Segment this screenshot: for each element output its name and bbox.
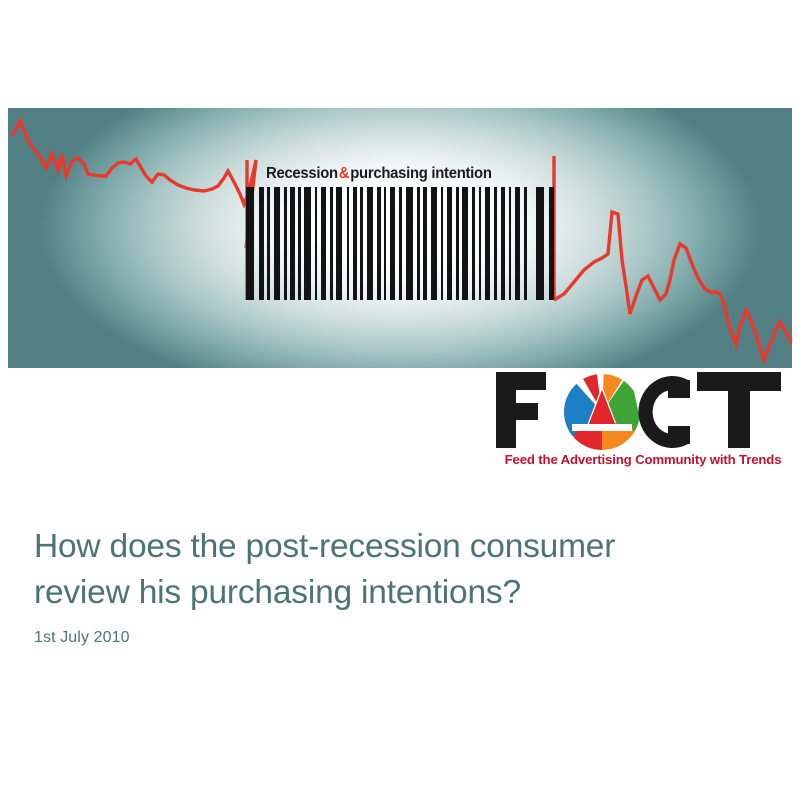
- fact-logo-mark: [492, 368, 792, 452]
- fact-logo-tagline: Feed the Advertising Community with Tren…: [494, 452, 792, 467]
- logo-letter-f: [496, 372, 546, 448]
- barcode-label-ampersand: &: [338, 165, 350, 183]
- page-title-line1: How does the post-recession consumer: [34, 528, 615, 565]
- page-title-line2: review his purchasing intentions?: [34, 570, 764, 616]
- fact-logo: Feed the Advertising Community with Tren…: [492, 368, 792, 478]
- logo-letter-a-circle: [558, 368, 646, 452]
- slide-canvas: Recession & purchasing intention: [0, 0, 800, 800]
- trendline-left-segment: [12, 121, 256, 248]
- barcode-graphic: Recession & purchasing intention: [246, 160, 554, 300]
- barcode-bars: [246, 187, 554, 300]
- barcode-label-prefix: Recession: [266, 165, 338, 183]
- logo-letter-t: [697, 372, 781, 448]
- barcode-label-suffix: purchasing intention: [350, 165, 491, 183]
- logo-letter-c: [638, 376, 690, 448]
- trendline-right-segment: [554, 212, 792, 360]
- presentation-date: 1st July 2010: [34, 629, 130, 647]
- barcode-label: Recession & purchasing intention: [266, 161, 527, 187]
- page-title: How does the post-recession consumer rev…: [34, 524, 764, 616]
